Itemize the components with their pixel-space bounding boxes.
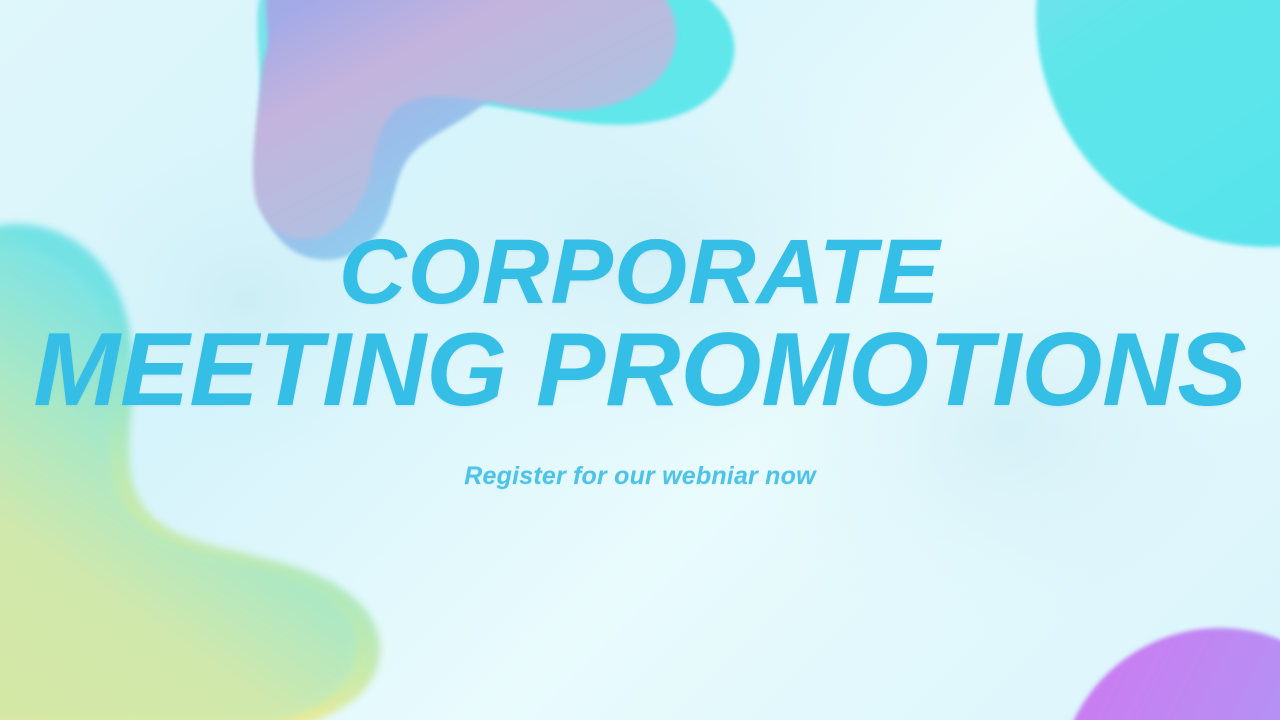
page-title: CORPORATE MEETING PROMOTIONS [33,229,1246,419]
promo-slide: CORPORATE MEETING PROMOTIONS Register fo… [0,0,1280,720]
headline-line-2: MEETING PROMOTIONS [33,322,1246,420]
headline-line-1: CORPORATE [21,229,1259,315]
slide-content: CORPORATE MEETING PROMOTIONS Register fo… [0,0,1280,720]
subtitle-call-to-action: Register for our webniar now [464,462,815,491]
